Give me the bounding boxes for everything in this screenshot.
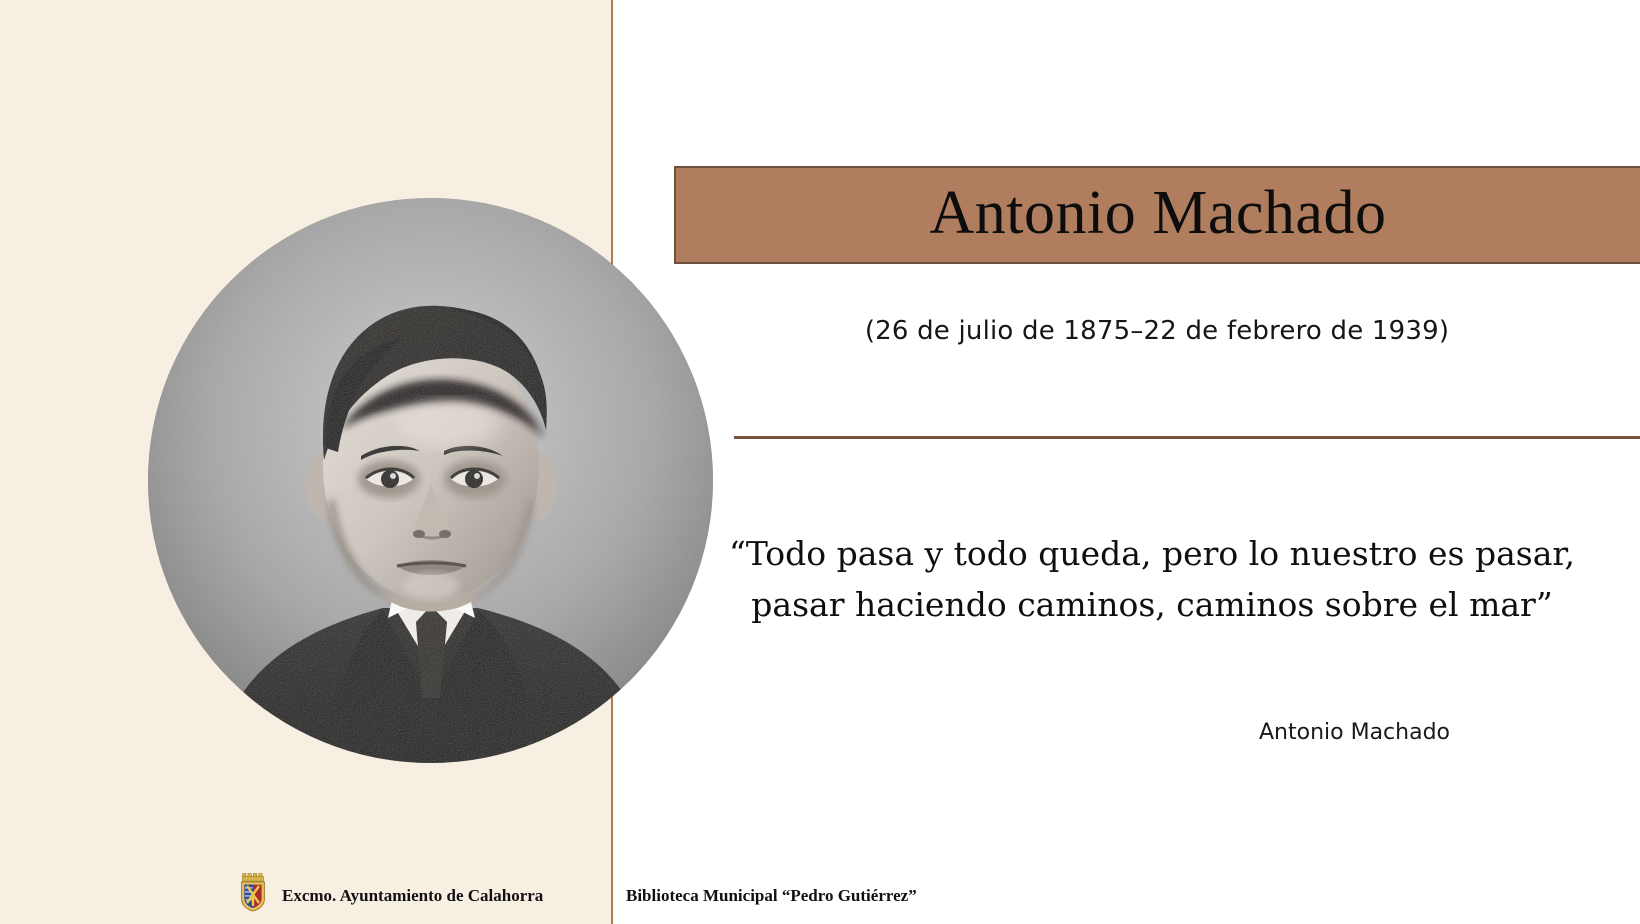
- portrait-image: [148, 198, 713, 763]
- calahorra-coat-of-arms-icon: [238, 872, 268, 912]
- footer-ayuntamiento-label: Excmo. Ayuntamiento de Calahorra: [282, 886, 543, 906]
- page-title: Antonio Machado: [930, 182, 1387, 244]
- slide-footer: Excmo. Ayuntamiento de Calahorra Bibliot…: [0, 858, 1640, 924]
- antonio-machado-portrait-photo: [148, 198, 713, 763]
- life-dates: (26 de julio de 1875–22 de febrero de 19…: [674, 316, 1640, 346]
- title-banner: Antonio Machado: [674, 166, 1640, 264]
- footer-biblioteca-label: Biblioteca Municipal “Pedro Gutiérrez”: [626, 886, 917, 906]
- horizontal-divider: [734, 436, 1640, 439]
- quote-attribution: Antonio Machado: [694, 720, 1450, 745]
- quote-block: “Todo pasa y todo queda, pero lo nuestro…: [694, 528, 1610, 630]
- slide-canvas: Antonio Machado (26 de julio de 1875–22 …: [0, 0, 1640, 924]
- quote-line-1: “Todo pasa y todo queda, pero lo nuestro…: [694, 528, 1610, 579]
- crest-svg: [238, 872, 268, 912]
- quote-line-2: pasar haciendo caminos, caminos sobre el…: [694, 579, 1610, 630]
